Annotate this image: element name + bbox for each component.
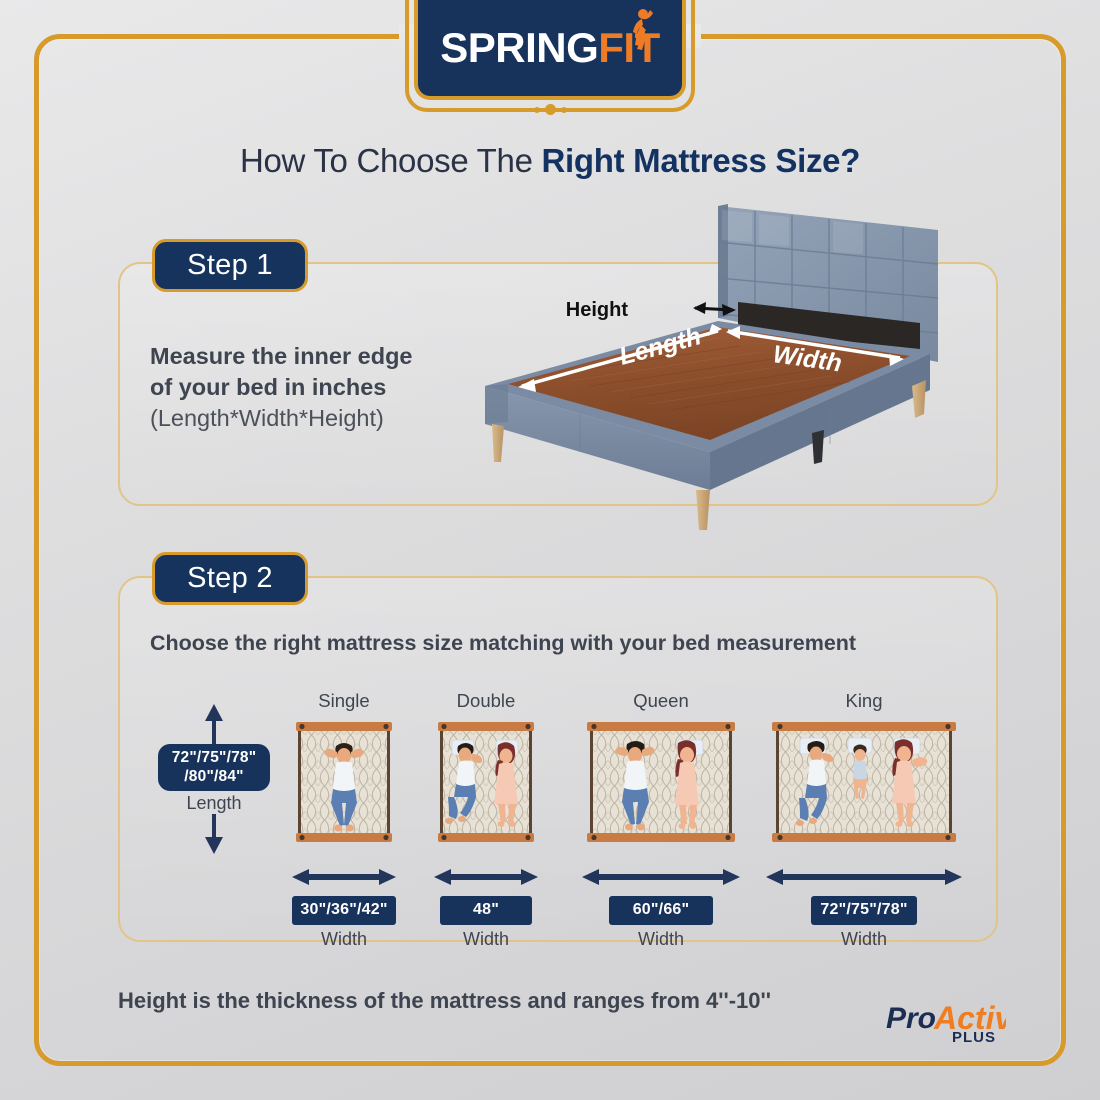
length-axis: 72"/75"/78" /80"/84" Length [158,704,270,854]
size-column-double[interactable]: Double [434,690,538,950]
jumping-figure-icon [624,8,654,54]
mattress-single [292,718,396,851]
size-column-queen[interactable]: Queen [582,690,740,950]
size-column-single[interactable]: Single [292,690,396,950]
length-value-line-1: 72"/75"/78" [164,748,264,767]
length-value-badge: 72"/75"/78" /80"/84" [158,744,270,791]
size-name-single: Single [292,690,396,712]
width-value-king: 72"/75"/78" [811,896,917,925]
page-title: How To Choose The Right Mattress Size? [0,142,1100,180]
width-label-king: Width [766,929,962,950]
step-1-subtext: (Length*Width*Height) [150,403,480,434]
step-1-badge: Step 1 [152,239,308,292]
mattress-king [766,718,962,851]
length-arrow-up-icon [158,704,270,744]
step-2-description: Choose the right mattress size matching … [150,628,890,658]
width-arrow-single-icon [292,869,396,890]
footer-note: Height is the thickness of the mattress … [118,988,771,1014]
bed-height-label: Height [566,299,629,321]
width-value-queen: 60"/66" [609,896,713,925]
page-title-bold: Right Mattress Size? [542,142,861,179]
bed-base [485,321,930,490]
mattress-double [434,718,538,851]
mattress-size-comparison: 72"/75"/78" /80"/84" Length Single [150,690,970,940]
width-value-single: 30"/36"/42" [292,896,396,925]
width-arrow-queen-icon [582,869,740,890]
bed-height-callout: Height [566,299,736,321]
width-arrow-king-icon [766,869,962,890]
length-arrow-down-icon [158,814,270,854]
width-label-double: Width [434,929,538,950]
brand-name-spring: SPRING [440,24,598,72]
size-name-king: King [766,690,962,712]
step-1-line-2: of your bed in inches [150,372,480,403]
width-label-single: Width [292,929,396,950]
proactiv-logo-plus: PLUS [952,1029,996,1046]
bed-illustration: Length Width Height [460,190,960,530]
proactiv-logo-pro: Pro [886,1002,936,1035]
proactiv-plus-logo: Pro Activ PLUS [886,996,1006,1046]
size-name-double: Double [434,690,538,712]
mattress-queen [582,718,740,851]
size-column-king[interactable]: King [766,690,962,950]
size-name-queen: Queen [582,690,740,712]
length-axis-label: Length [158,793,270,814]
brand-name-fit: FIT [598,24,659,72]
width-arrow-double-icon [434,869,538,890]
step-2-badge: Step 2 [152,552,308,605]
step-1-description: Measure the inner edge of your bed in in… [150,341,480,434]
step-1-line-1: Measure the inner edge [150,341,480,372]
page-title-regular: How To Choose The [240,142,542,179]
width-label-queen: Width [582,929,740,950]
brand-logo-tab: SPRING FIT [414,0,686,100]
length-value-line-2: /80"/84" [164,767,264,786]
brand-logo: SPRING FIT [440,24,660,72]
logo-decorative-dots [418,104,682,115]
width-value-double: 48" [440,896,532,925]
